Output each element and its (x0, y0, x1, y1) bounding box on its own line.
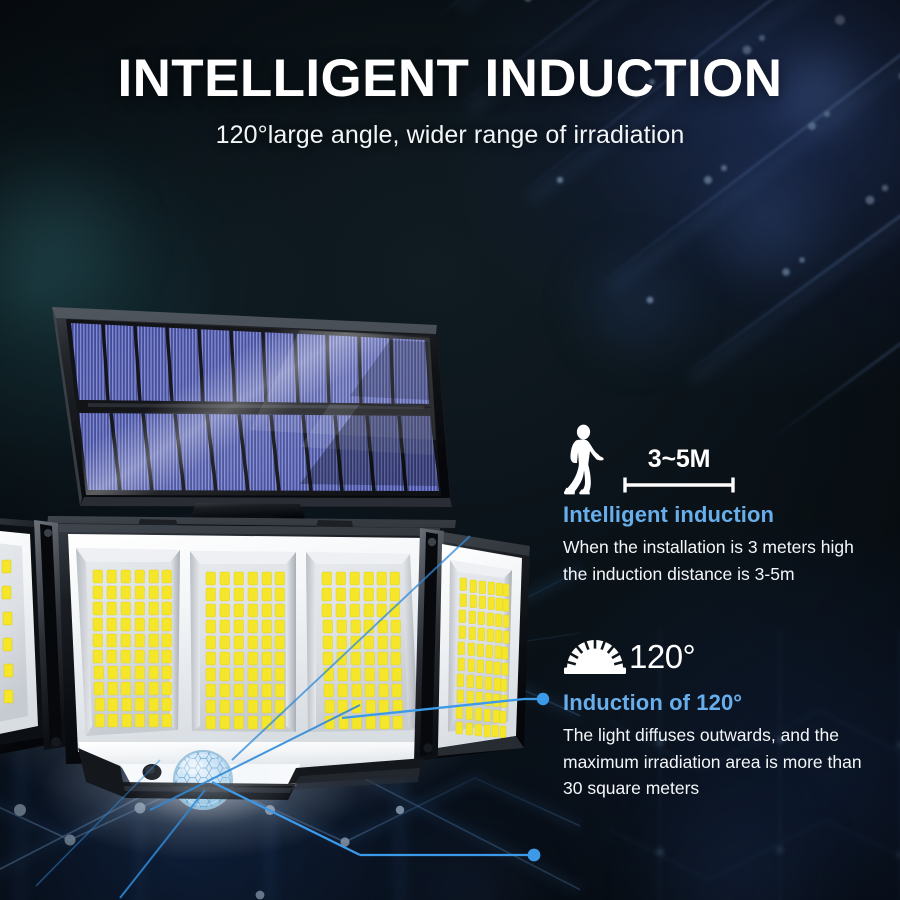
dimension-arrow-icon (621, 476, 737, 494)
feature-body: When the installation is 3 meters high t… (563, 534, 900, 587)
feature-body-line: the induction distance is 3-5m (563, 561, 900, 588)
page-title: INTELLIGENT INDUCTION (0, 52, 900, 105)
product-infographic: INTELLIGENT INDUCTION 120°large angle, w… (0, 0, 900, 900)
header-block: INTELLIGENT INDUCTION 120°large angle, w… (0, 52, 900, 150)
feature-heading: Induction of 120° (563, 690, 900, 716)
feature-induction-angle: 120° Induction of 120° The light diffuse… (563, 632, 900, 802)
walking-person-icon (563, 424, 607, 496)
feature-body-line: When the installation is 3 meters high (563, 534, 900, 561)
feature-heading: Intelligent induction (563, 502, 900, 528)
distance-label: 3~5M (648, 447, 710, 472)
page-subtitle: 120°large angle, wider range of irradiat… (0, 121, 900, 150)
feature-body: The light diffuses outwards, and the max… (563, 722, 900, 802)
feature-intelligent-induction: 3~5M Intelligent induction When the inst… (563, 420, 900, 587)
protractor-icon (563, 636, 627, 676)
induction-icon-row: 3~5M (563, 420, 900, 496)
angle-label: 120° (629, 640, 695, 673)
feature-body-line: 30 square meters (563, 775, 900, 802)
distance-dimension: 3~5M (621, 447, 737, 496)
feature-body-line: maximum irradiation area is more than (563, 749, 900, 776)
feature-body-line: The light diffuses outwards, and the (563, 722, 900, 749)
angle-icon-row: 120° (563, 632, 900, 680)
